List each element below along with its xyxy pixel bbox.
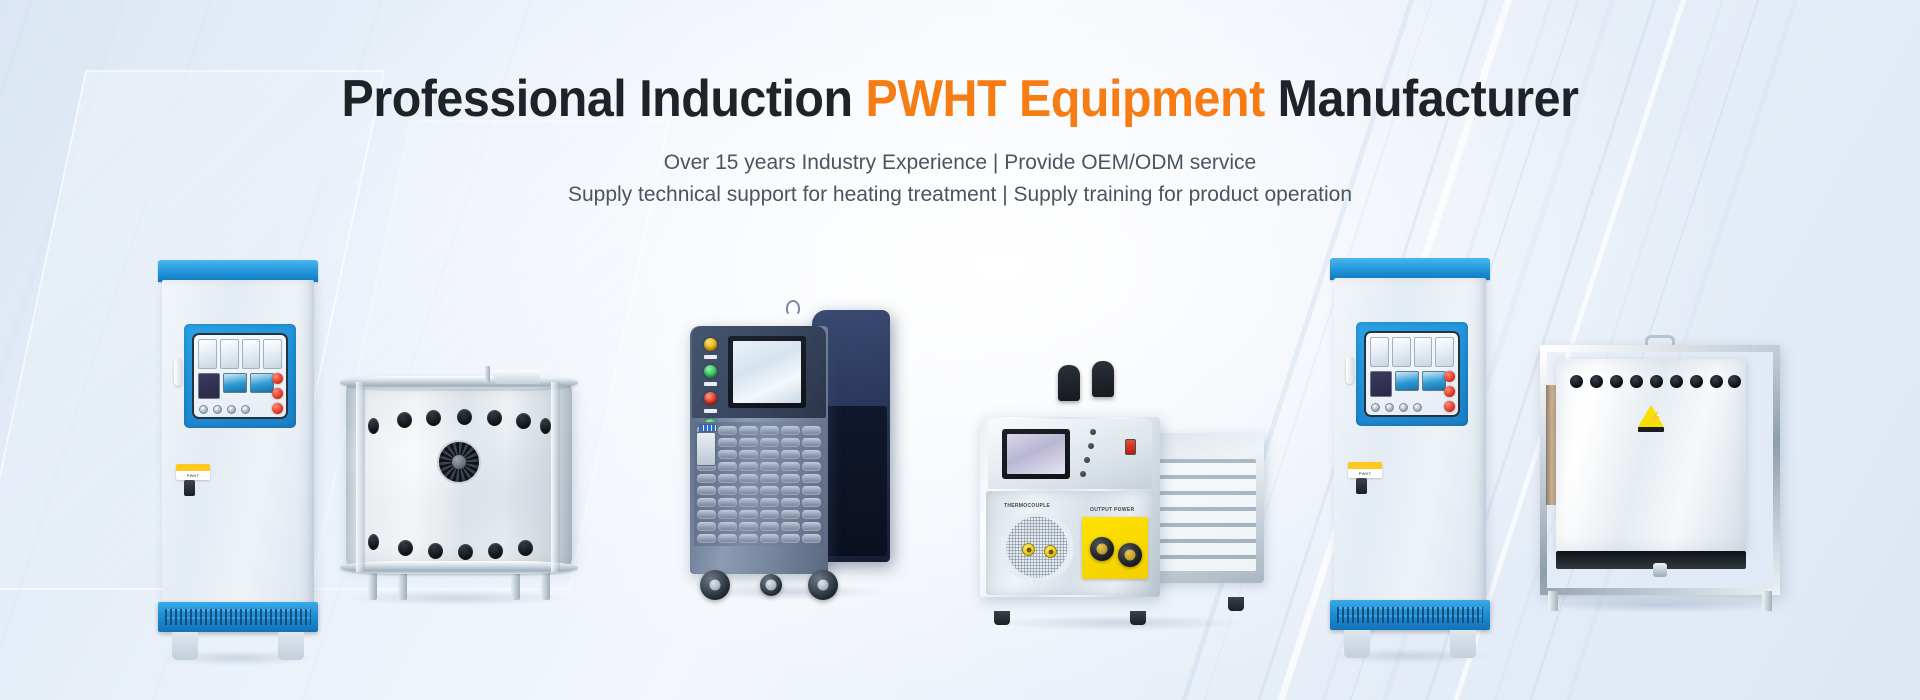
caster-wheel: [700, 570, 730, 600]
louver-vent: [802, 450, 821, 459]
furnace-pipe: [485, 366, 490, 382]
louver-vent: [781, 522, 800, 531]
cabinet-foot: [172, 632, 198, 660]
furnace-rib: [356, 382, 365, 572]
cabinet-top-trim: [158, 260, 318, 282]
furnace-port-hole: [488, 543, 503, 559]
louver-vent: [760, 534, 779, 543]
output-power-port[interactable]: [1090, 537, 1114, 561]
output-power-panel: [1082, 517, 1148, 579]
cabinet-panel-inner: [1364, 331, 1460, 417]
product-blue-induction-machine[interactable]: [690, 300, 890, 600]
rack-port-hole: [1570, 375, 1583, 388]
analog-meter: [242, 339, 261, 369]
louver-vent: [802, 510, 821, 519]
louver-vent: [781, 450, 800, 459]
louver-vent: [739, 474, 758, 483]
louver-vent: [802, 438, 821, 447]
indicator-led: [1080, 471, 1086, 477]
lcd-display: [198, 373, 220, 399]
hmi-screen[interactable]: [733, 341, 801, 403]
louver-vent: [718, 462, 737, 471]
hmi-screen[interactable]: [1007, 434, 1065, 474]
louver-vent: [781, 486, 800, 495]
louver-vent: [739, 450, 758, 459]
louver-vent: [760, 426, 779, 435]
analog-meter: [220, 339, 239, 369]
cabinet-body: PWHT: [162, 280, 314, 625]
furnace-port-hole: [426, 410, 441, 426]
control-knob[interactable]: [1399, 403, 1408, 412]
headline-part-1: Professional Induction: [342, 70, 866, 128]
louver-vent: [802, 486, 821, 495]
emergency-button[interactable]: [1444, 401, 1455, 412]
furnace-rib: [551, 382, 560, 572]
indicator-led: [1090, 429, 1096, 435]
hero-text-block: Professional Induction PWHT Equipment Ma…: [0, 72, 1920, 210]
furnace-port-hole: [397, 412, 412, 428]
furnace-leg: [541, 570, 550, 600]
louver-vent: [781, 474, 800, 483]
rack-port-hole: [1690, 375, 1703, 388]
cooling-fins: [1154, 459, 1256, 571]
louver-vent: [718, 486, 737, 495]
louver-vent: [760, 498, 779, 507]
louver-vent: [739, 438, 758, 447]
louver-vent: [718, 450, 737, 459]
cabinet-lock[interactable]: [184, 480, 195, 496]
product-showcase: PWHT: [0, 250, 1920, 700]
control-knob[interactable]: [1371, 403, 1380, 412]
louver-vent: [760, 522, 779, 531]
emergency-button[interactable]: [1444, 371, 1455, 382]
product-cylindrical-furnace[interactable]: [340, 370, 578, 600]
louver-vent: [781, 438, 800, 447]
page-title: Professional Induction PWHT Equipment Ma…: [67, 72, 1853, 127]
lcd-display: [1422, 371, 1446, 391]
headline-part-2: Manufacturer: [1265, 70, 1579, 128]
rack-port-hole: [1590, 375, 1603, 388]
emergency-button[interactable]: [272, 403, 283, 414]
subtitle-line-2: Supply technical support for heating tre…: [0, 179, 1920, 211]
furnace-port-hole: [398, 540, 413, 556]
emergency-button[interactable]: [272, 388, 283, 399]
caster-wheel: [808, 570, 838, 600]
caster-wheel: [760, 574, 782, 596]
power-switch[interactable]: [1125, 439, 1136, 455]
furnace-junction-box: [494, 370, 540, 384]
louver-vent: [739, 510, 758, 519]
rack-leg: [1762, 591, 1772, 611]
rack-bottom-shelf: [1556, 551, 1746, 569]
furnace-port-hole: [516, 413, 531, 429]
control-knob[interactable]: [227, 405, 236, 414]
louver-vent: [760, 462, 779, 471]
cabinet-meter-row: [1370, 337, 1454, 367]
cabinet-bottom-vent: [158, 602, 318, 632]
analog-meter: [198, 339, 217, 369]
furnace-exhaust-fan: [437, 440, 481, 484]
cabinet-meter-row: [198, 339, 282, 369]
furnace-port-hole: [368, 418, 379, 434]
louver-vent: [802, 426, 821, 435]
nameplate-text: PWHT: [176, 471, 210, 480]
rack-port-hole: [1630, 375, 1643, 388]
rack-port-hole: [1650, 375, 1663, 388]
furnace-port-hole: [458, 544, 473, 560]
emergency-button[interactable]: [272, 373, 283, 384]
indicator-led: [1088, 443, 1094, 449]
louver-vent: [802, 462, 821, 471]
cabinet-control-panel[interactable]: [184, 324, 296, 428]
thermocouple-mesh-panel: [1000, 513, 1074, 581]
louver-vent: [781, 462, 800, 471]
louver-vent: [697, 534, 716, 543]
louver-vent: [802, 474, 821, 483]
louver-vent: [781, 498, 800, 507]
furnace-port-hole: [428, 543, 443, 559]
hero-banner: Professional Induction PWHT Equipment Ma…: [0, 0, 1920, 700]
machine-front-plate: THERMOCOUPLE OUTPUT POWER: [986, 491, 1154, 595]
indicator-led: [1084, 457, 1090, 463]
louver-vent: [718, 510, 737, 519]
analog-meter: [1370, 337, 1389, 367]
louver-vent: [739, 498, 758, 507]
rack-front-door: ⚡: [1556, 359, 1746, 551]
louver-vent: [718, 498, 737, 507]
furnace-port-hole: [487, 410, 502, 426]
machine-foot: [1130, 611, 1146, 625]
louver-vent: [718, 426, 737, 435]
furnace-leg: [511, 570, 520, 600]
output-power-label: OUTPUT POWER: [1090, 507, 1134, 513]
lifting-hook-icon: [786, 300, 800, 316]
louver-vent: [802, 498, 821, 507]
analog-meter: [263, 339, 282, 369]
thermocouple-label: THERMOCOUPLE: [1004, 503, 1050, 509]
cabinet-control-panel[interactable]: [1356, 322, 1468, 426]
louver-vent: [697, 474, 716, 483]
louver-vent: [781, 426, 800, 435]
furnace-leg: [368, 570, 377, 600]
lcd-display: [250, 373, 274, 393]
product-control-cabinet-left[interactable]: PWHT: [158, 260, 318, 660]
machine-foot: [1228, 597, 1244, 611]
machine-rear-housing: [1148, 433, 1264, 583]
machine-head-panel: [692, 326, 826, 418]
louver-vent: [718, 534, 737, 543]
machine-indicator-cluster: [1076, 427, 1140, 483]
machine-foot: [994, 611, 1010, 625]
louver-vent: [781, 534, 800, 543]
cabinet-panel-inner: [192, 333, 288, 419]
louver-vent: [697, 486, 716, 495]
louver-vent: [718, 438, 737, 447]
output-coil-port: [1058, 365, 1080, 401]
control-knob[interactable]: [199, 405, 208, 414]
furnace-port-hole: [457, 409, 472, 425]
louver-vent: [802, 522, 821, 531]
cabinet-foot: [1450, 630, 1476, 658]
status-lamp-green: [704, 365, 717, 378]
high-voltage-warning-icon: ⚡: [1638, 405, 1664, 431]
louver-vent: [739, 522, 758, 531]
furnace-port-hole: [368, 534, 379, 550]
analog-meter: [1392, 337, 1411, 367]
output-coil-port: [1092, 361, 1114, 397]
cabinet-door-handle[interactable]: [174, 358, 182, 386]
cabinet-knob-row[interactable]: [1371, 403, 1447, 413]
control-knob[interactable]: [213, 405, 222, 414]
rack-port-hole: [1670, 375, 1683, 388]
cabinet-foot: [1344, 630, 1370, 658]
analog-meter: [1435, 337, 1454, 367]
rack-latch[interactable]: [1653, 563, 1667, 577]
hmi-touch-panel[interactable]: [728, 336, 806, 408]
lcd-display: [1370, 371, 1392, 397]
furnace-bottom-band: [340, 561, 578, 574]
louver-vent: [760, 474, 779, 483]
cabinet-door-handle[interactable]: [1346, 356, 1354, 384]
product-stainless-cage-rack[interactable]: ⚡: [1540, 345, 1780, 595]
cabinet-foot: [278, 632, 304, 660]
louver-vent: [697, 510, 716, 519]
machine-upper-panel: [988, 419, 1152, 489]
product-stainless-heating-machine[interactable]: THERMOCOUPLE OUTPUT POWER: [980, 395, 1260, 625]
furnace-top-band: [340, 376, 578, 389]
nameplate-text: PWHT: [1348, 469, 1382, 478]
louver-vent: [760, 510, 779, 519]
rack-port-hole: [1728, 375, 1741, 388]
thermocouple-port[interactable]: [1044, 545, 1057, 558]
louver-vent: [760, 450, 779, 459]
cabinet-top-trim: [1330, 258, 1490, 280]
machine-panel-meter: [696, 432, 716, 466]
lcd-display: [1395, 371, 1419, 391]
product-control-cabinet-right[interactable]: PWHT: [1330, 258, 1490, 658]
furnace-port-hole: [518, 540, 533, 556]
thermocouple-port[interactable]: [1022, 543, 1035, 556]
cabinet-lock[interactable]: [1356, 478, 1367, 494]
headline-highlight: PWHT Equipment: [866, 70, 1265, 128]
cabinet-button-column[interactable]: [1444, 371, 1455, 412]
louver-vent: [781, 510, 800, 519]
louver-vent: [739, 462, 758, 471]
control-knob[interactable]: [1413, 403, 1422, 412]
louver-vent: [802, 534, 821, 543]
analog-meter: [1414, 337, 1433, 367]
cabinet-bottom-vent: [1330, 600, 1490, 630]
cabinet-nameplate: PWHT: [1348, 462, 1382, 478]
cabinet-body: PWHT: [1334, 278, 1486, 623]
rack-leg: [1548, 591, 1558, 611]
control-knob[interactable]: [241, 405, 250, 414]
emergency-button[interactable]: [1444, 386, 1455, 397]
furnace-port-hole: [540, 418, 551, 434]
rack-port-hole: [1710, 375, 1723, 388]
status-lamp-amber: [704, 338, 717, 351]
rack-port-hole: [1610, 375, 1623, 388]
subtitle-line-1: Over 15 years Industry Experience | Prov…: [664, 151, 1257, 174]
hmi-touch-panel[interactable]: [1002, 429, 1070, 479]
output-power-port[interactable]: [1118, 543, 1142, 567]
control-knob[interactable]: [1385, 403, 1394, 412]
cabinet-nameplate: PWHT: [176, 464, 210, 480]
louver-vent: [697, 522, 716, 531]
louver-vent: [739, 534, 758, 543]
hero-subtitle: Over 15 years Industry Experience | Prov…: [0, 147, 1920, 211]
louver-vent: [760, 438, 779, 447]
lcd-display: [223, 373, 247, 393]
cabinet-knob-row[interactable]: [199, 405, 275, 415]
status-lamp-red: [704, 392, 717, 405]
louver-vent: [718, 474, 737, 483]
louver-vent: [739, 426, 758, 435]
louver-vent: [739, 486, 758, 495]
louver-vent: [760, 486, 779, 495]
furnace-leg: [398, 570, 407, 600]
louver-vent: [697, 498, 716, 507]
louver-vent: [718, 522, 737, 531]
cabinet-button-column[interactable]: [272, 373, 283, 414]
